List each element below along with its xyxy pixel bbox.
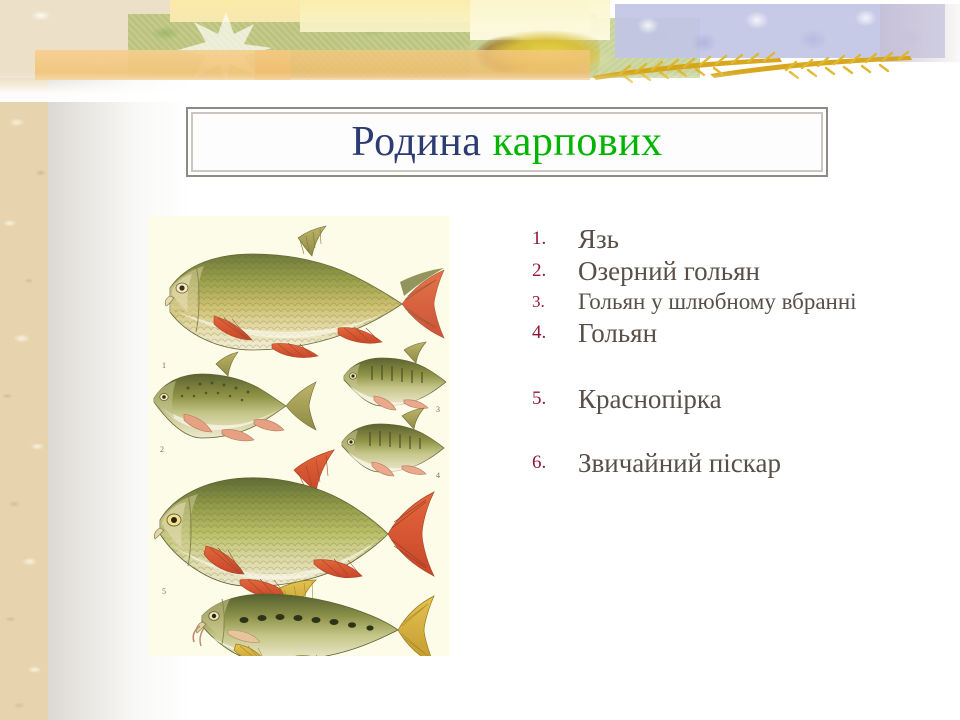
list-item-label: Озерний гольян [578,256,760,286]
list-item-label: Язь [578,224,619,254]
list-item-label: Звичайний піскар [578,448,781,478]
title-box: Родина карпових [186,107,828,177]
list-item-label: Гольян у шлюбному вбранні [578,288,857,316]
svg-text:4: 4 [436,471,440,480]
list-item-number: 5. [524,384,578,414]
svg-text:5: 5 [162,587,166,596]
banner-bottom-fade [0,72,960,102]
fish-illustration: 1 2 [148,216,450,656]
list-spacer [524,350,936,384]
svg-text:3: 3 [436,405,440,414]
list-item-label: Краснопірка [578,384,722,414]
fish-species-list: 1. Язь 2. Озерний гольян 3. Гольян у шлю… [524,224,936,480]
list-item[interactable]: 1. Язь [524,224,936,254]
list-item[interactable]: 2. Озерний гольян [524,256,936,286]
left-texture-band [0,0,48,720]
svg-text:1: 1 [162,361,166,370]
title-word-accent: карпових [492,119,662,165]
list-item[interactable]: 6. Звичайний піскар [524,448,936,478]
list-item[interactable]: 4. Гольян [524,318,936,348]
slide-canvas: Родина карпових [0,0,960,720]
list-item-number: 3. [524,288,578,316]
title-word-primary: Родина [351,119,481,165]
svg-text:2: 2 [160,445,164,454]
list-item[interactable]: 3. Гольян у шлюбному вбранні [524,288,936,316]
decorative-banner [0,0,960,96]
list-item-number: 6. [524,448,578,478]
list-item-number: 2. [524,256,578,286]
list-item-number: 4. [524,318,578,348]
list-spacer [524,416,936,448]
list-item-number: 1. [524,224,578,254]
list-item-label: Гольян [578,318,657,348]
page-title: Родина карпових [351,121,662,163]
list-item[interactable]: 5. Краснопірка [524,384,936,414]
fish-plate-image: 1 2 [148,216,450,656]
